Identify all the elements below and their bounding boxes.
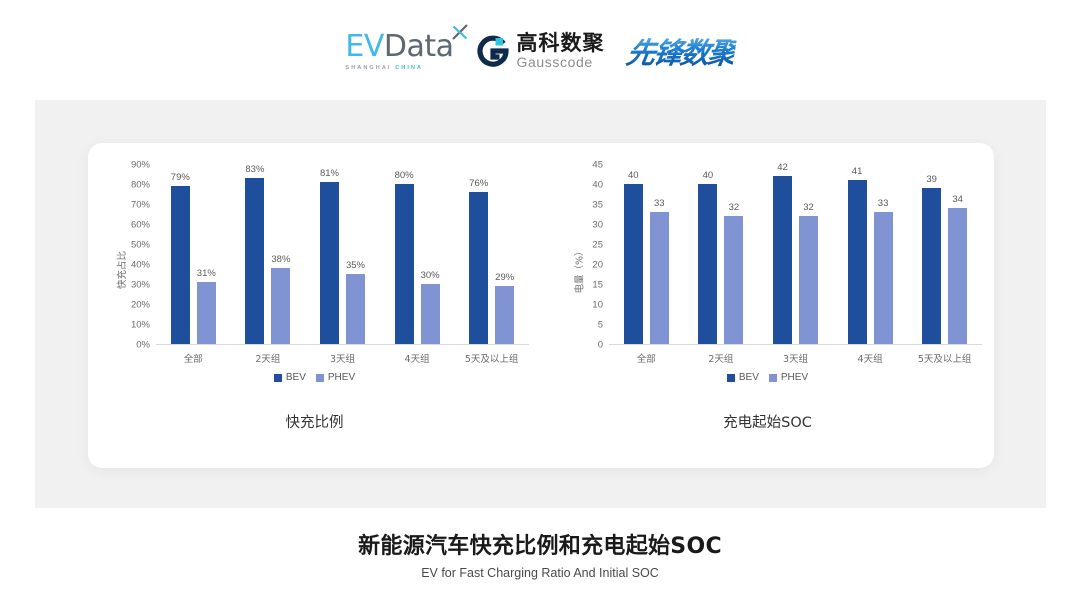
- x-mark-icon: [450, 22, 470, 42]
- legend-item-phev[interactable]: PHEV: [316, 372, 355, 383]
- y-tick-label: 45: [592, 160, 603, 171]
- y-tick-label: 10%: [131, 320, 150, 331]
- y-tick-label: 80%: [131, 180, 150, 191]
- bar-value-label: 40: [628, 170, 639, 181]
- legend-label: PHEV: [328, 372, 355, 383]
- chart-initial-soc: 电量（%） 454035302520151050 403340324232413…: [541, 143, 994, 468]
- bar-wrapper: 33: [650, 165, 669, 344]
- bar-groups-right: 40334032423241333934: [609, 165, 982, 344]
- bar-value-label: 30%: [421, 270, 440, 281]
- legend-label: PHEV: [781, 372, 808, 383]
- y-tick-label: 20%: [131, 300, 150, 311]
- y-tick-label: 0%: [136, 340, 150, 351]
- bar-value-label: 33: [878, 198, 889, 209]
- bar-groups-left: 79%31%83%38%81%35%80%30%76%29%: [156, 165, 529, 344]
- main-title: 新能源汽车快充比例和充电起始SOC: [0, 533, 1080, 561]
- bar-wrapper: 30%: [421, 165, 440, 344]
- bar-value-label: 83%: [245, 164, 264, 175]
- bar-group: 81%35%: [305, 165, 380, 344]
- bar-wrapper: 31%: [197, 165, 216, 344]
- bar-bev[interactable]: [922, 188, 941, 344]
- bar-value-label: 31%: [197, 268, 216, 279]
- legend-label: BEV: [286, 372, 306, 383]
- bar-wrapper: 35%: [346, 165, 365, 344]
- x-tick-label: 3天组: [305, 351, 380, 365]
- bar-wrapper: 29%: [495, 165, 514, 344]
- bar-wrapper: 41: [848, 165, 867, 344]
- gausscode-cn-text: 高科数聚: [517, 33, 605, 54]
- bar-bev[interactable]: [469, 192, 488, 344]
- x-ticks-left: 全部2天组3天组4天组5天及以上组: [156, 351, 529, 365]
- bar-group: 4032: [684, 165, 759, 344]
- bar-wrapper: 81%: [320, 165, 339, 344]
- chart-caption-left: 快充比例: [88, 411, 541, 432]
- y-tick-label: 30: [592, 220, 603, 231]
- y-tick-label: 40: [592, 180, 603, 191]
- bar-phev[interactable]: [346, 274, 365, 344]
- bar-bev[interactable]: [698, 184, 717, 344]
- bar-wrapper: 79%: [171, 165, 190, 344]
- gausscode-mark-icon: [476, 34, 510, 68]
- sub-title: EV for Fast Charging Ratio And Initial S…: [0, 566, 1080, 580]
- legend-swatch-icon: [274, 374, 282, 382]
- bar-value-label: 76%: [469, 178, 488, 189]
- y-tick-label: 50%: [131, 240, 150, 251]
- bar-wrapper: 32: [724, 165, 743, 344]
- bar-value-label: 32: [729, 202, 740, 213]
- evdata-sub-shanghai: SHANGHAI: [345, 65, 391, 71]
- charts-row: 快充占比 90%80%70%60%50%40%30%20%10%0% 79%31…: [88, 143, 994, 468]
- bar-phev[interactable]: [650, 212, 669, 344]
- legend-label: BEV: [739, 372, 759, 383]
- bar-wrapper: 40: [624, 165, 643, 344]
- bar-group: 80%30%: [380, 165, 455, 344]
- y-tick-label: 0: [598, 340, 603, 351]
- y-ticks-right: 454035302520151050: [567, 165, 603, 345]
- bar-bev[interactable]: [773, 176, 792, 344]
- legend-item-bev[interactable]: BEV: [727, 372, 759, 383]
- x-tick-label: 4天组: [380, 351, 455, 365]
- y-tick-label: 35: [592, 200, 603, 211]
- y-ticks-left: 90%80%70%60%50%40%30%20%10%0%: [114, 165, 150, 345]
- y-tick-label: 5: [598, 320, 603, 331]
- bar-phev[interactable]: [948, 208, 967, 344]
- gausscode-en-text: Gausscode: [517, 55, 605, 69]
- logo-bar: EVData SHANGHAI CHINA 高科数聚 Gausscode: [0, 22, 1080, 80]
- bar-group: 83%38%: [231, 165, 306, 344]
- bar-wrapper: 76%: [469, 165, 488, 344]
- y-tick-label: 60%: [131, 220, 150, 231]
- gausscode-logo: 高科数聚 Gausscode: [476, 33, 605, 69]
- legend-item-phev[interactable]: PHEV: [769, 372, 808, 383]
- bar-value-label: 42: [777, 162, 788, 173]
- bar-group: 4232: [758, 165, 833, 344]
- bar-value-label: 33: [654, 198, 665, 209]
- evdata-logo: EVData SHANGHAI CHINA: [345, 32, 453, 71]
- bar-phev[interactable]: [874, 212, 893, 344]
- evdata-sub-china: CHINA: [395, 65, 423, 71]
- evdata-ev-text: EV: [345, 29, 383, 64]
- legend-right: BEVPHEV: [541, 372, 994, 383]
- x-tick-label: 2天组: [684, 351, 759, 365]
- bar-wrapper: 33: [874, 165, 893, 344]
- y-tick-label: 10: [592, 300, 603, 311]
- x-tick-label: 2天组: [231, 351, 306, 365]
- y-tick-label: 90%: [131, 160, 150, 171]
- bar-phev[interactable]: [197, 282, 216, 344]
- bar-value-label: 81%: [320, 168, 339, 179]
- bar-group: 4033: [609, 165, 684, 344]
- x-tick-label: 5天及以上组: [907, 351, 982, 365]
- bar-wrapper: 40: [698, 165, 717, 344]
- bar-value-label: 35%: [346, 260, 365, 271]
- bar-value-label: 41: [852, 166, 863, 177]
- chart-fast-charging-ratio: 快充占比 90%80%70%60%50%40%30%20%10%0% 79%31…: [88, 143, 541, 468]
- bar-group: 76%29%: [454, 165, 529, 344]
- bar-group: 3934: [907, 165, 982, 344]
- bar-value-label: 32: [803, 202, 814, 213]
- bar-phev[interactable]: [271, 268, 290, 344]
- bar-bev[interactable]: [624, 184, 643, 344]
- legend-swatch-icon: [727, 374, 735, 382]
- legend-item-bev[interactable]: BEV: [274, 372, 306, 383]
- bar-bev[interactable]: [245, 178, 264, 344]
- x-tick-label: 5天及以上组: [454, 351, 529, 365]
- chart-plot-area-right: 电量（%） 454035302520151050 403340324232413…: [541, 157, 994, 383]
- y-tick-label: 30%: [131, 280, 150, 291]
- bar-wrapper: 34: [948, 165, 967, 344]
- y-tick-label: 20: [592, 260, 603, 271]
- bar-group: 4133: [833, 165, 908, 344]
- bar-phev[interactable]: [724, 216, 743, 344]
- legend-swatch-icon: [769, 374, 777, 382]
- bar-wrapper: 39: [922, 165, 941, 344]
- x-tick-label: 全部: [156, 351, 231, 365]
- bar-bev[interactable]: [320, 182, 339, 344]
- bar-wrapper: 83%: [245, 165, 264, 344]
- legend-left: BEVPHEV: [88, 372, 541, 383]
- bar-wrapper: 38%: [271, 165, 290, 344]
- bar-value-label: 29%: [495, 272, 514, 283]
- bar-bev[interactable]: [395, 184, 414, 344]
- y-tick-label: 25: [592, 240, 603, 251]
- plot-left: 79%31%83%38%81%35%80%30%76%29%: [156, 165, 529, 345]
- y-tick-label: 15: [592, 280, 603, 291]
- bar-phev[interactable]: [799, 216, 818, 344]
- charts-card: 快充占比 90%80%70%60%50%40%30%20%10%0% 79%31…: [88, 143, 994, 468]
- x-tick-label: 全部: [609, 351, 684, 365]
- x-tick-label: 3天组: [758, 351, 833, 365]
- bar-group: 79%31%: [156, 165, 231, 344]
- bar-value-label: 38%: [271, 254, 290, 265]
- bar-wrapper: 80%: [395, 165, 414, 344]
- bar-wrapper: 32: [799, 165, 818, 344]
- x-tick-label: 4天组: [833, 351, 908, 365]
- bar-value-label: 79%: [171, 172, 190, 183]
- y-tick-label: 40%: [131, 260, 150, 271]
- bar-value-label: 40: [703, 170, 714, 181]
- bar-phev[interactable]: [495, 286, 514, 344]
- bar-value-label: 80%: [395, 170, 414, 181]
- bar-bev[interactable]: [848, 180, 867, 344]
- chart-caption-right: 充电起始SOC: [541, 411, 994, 432]
- bar-value-label: 39: [926, 174, 937, 185]
- evdata-data-text: Data: [384, 29, 454, 64]
- bar-wrapper: 42: [773, 165, 792, 344]
- xianfeng-logo: 先锋数聚: [623, 30, 738, 72]
- x-ticks-right: 全部2天组3天组4天组5天及以上组: [609, 351, 982, 365]
- y-tick-label: 70%: [131, 200, 150, 211]
- bottom-titles: 新能源汽车快充比例和充电起始SOC EV for Fast Charging R…: [0, 533, 1080, 580]
- bar-phev[interactable]: [421, 284, 440, 344]
- legend-swatch-icon: [316, 374, 324, 382]
- bar-value-label: 34: [952, 194, 963, 205]
- chart-plot-area-left: 快充占比 90%80%70%60%50%40%30%20%10%0% 79%31…: [88, 157, 541, 383]
- plot-right: 40334032423241333934: [609, 165, 982, 345]
- bar-bev[interactable]: [171, 186, 190, 344]
